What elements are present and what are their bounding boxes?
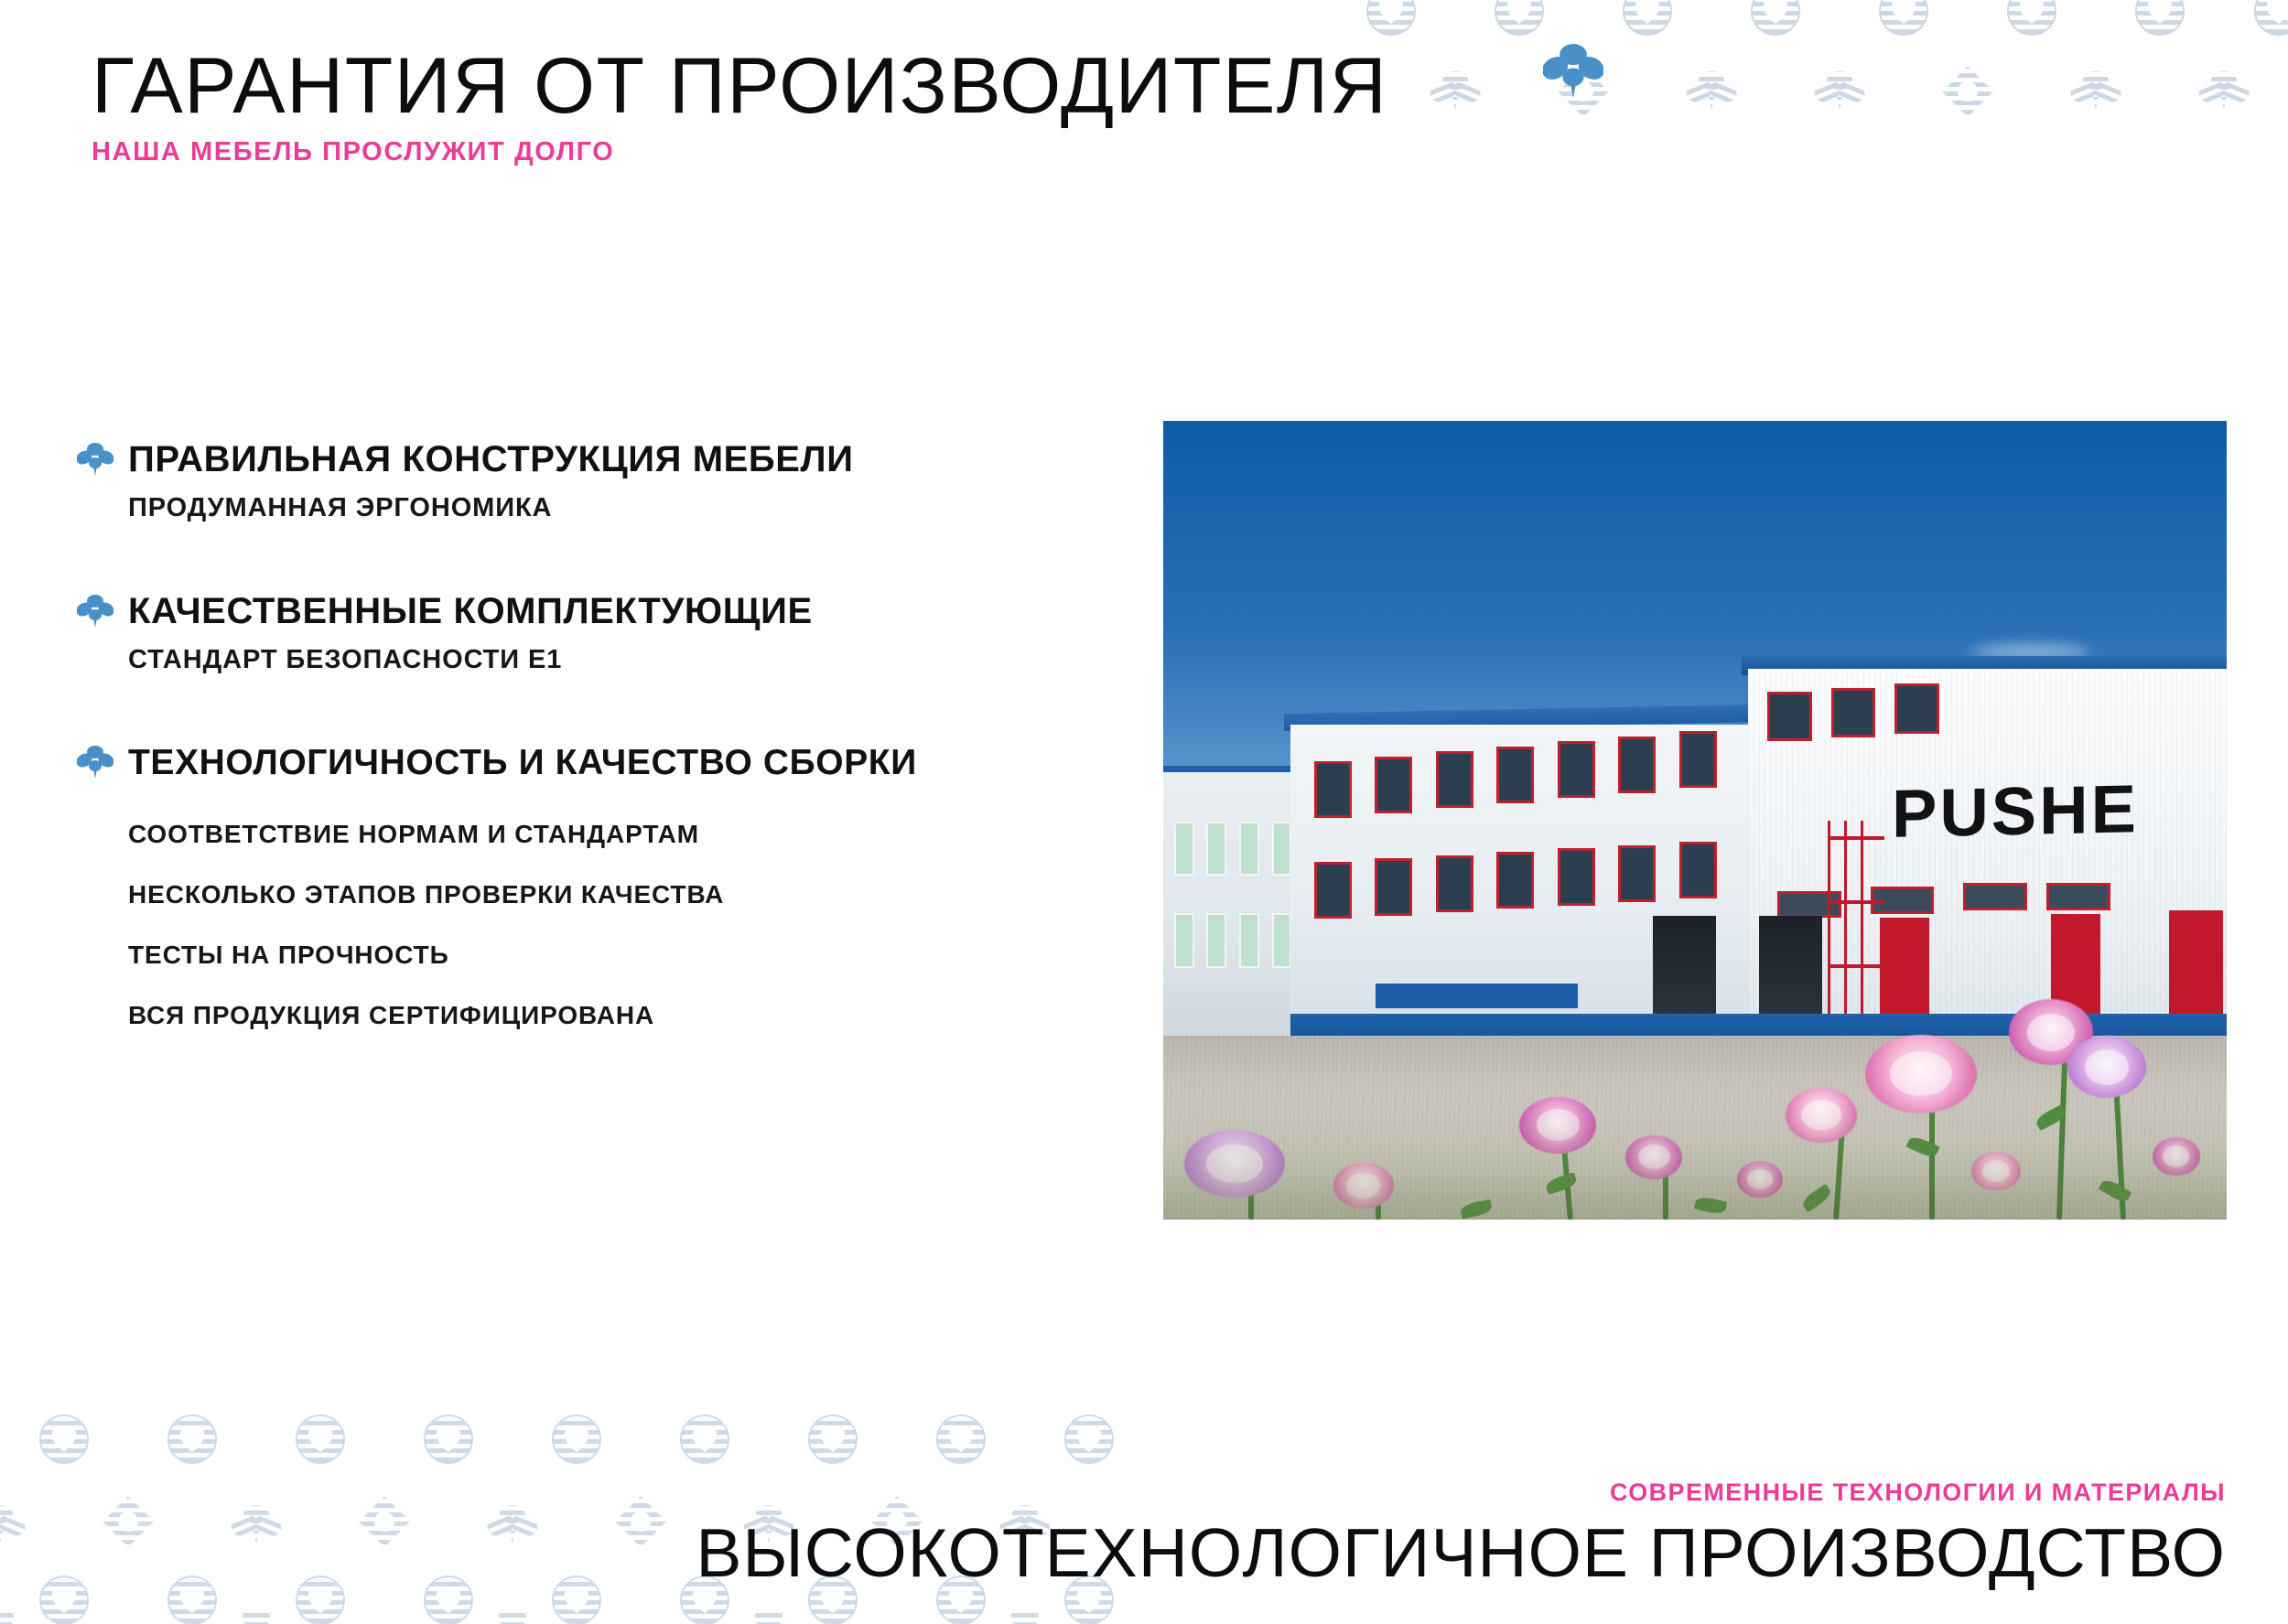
slide-header: ГАРАНТИЯ ОТ ПРОИЗВОДИТЕЛЯ НАША МЕБЕЛЬ ПР… <box>92 48 1647 167</box>
factory-photo: PUSHE <box>1163 421 2227 1220</box>
list-item: ТЕСТЫ НА ПРОЧНОСТЬ <box>128 941 1139 970</box>
feature-heading-row: КАЧЕСТВЕННЫЕ КОМПЛЕКТУЮЩИЕ <box>77 591 1139 632</box>
clover-bullet-icon <box>77 594 113 630</box>
quality-sublist: СООТВЕТСТВИЕ НОРМАМ И СТАНДАРТАМ НЕСКОЛЬ… <box>128 820 1139 1030</box>
photo-foreground-blur <box>1163 1100 2227 1220</box>
feature-item-components: КАЧЕСТВЕННЫЕ КОМПЛЕКТУЮЩИЕ СТАНДАРТ БЕЗО… <box>77 591 1139 675</box>
page-subtitle: НАША МЕБЕЛЬ ПРОСЛУЖИТ ДОЛГО <box>92 137 1647 167</box>
clover-bullet-icon <box>77 442 113 479</box>
slide-canvas: ГАРАНТИЯ ОТ ПРОИЗВОДИТЕЛЯ НАША МЕБЕЛЬ ПР… <box>0 0 2288 1624</box>
list-item: ВСЯ ПРОДУКЦИЯ СЕРТИФИЦИРОВАНА <box>128 1001 1139 1030</box>
list-item: СООТВЕТСТВИЕ НОРМАМ И СТАНДАРТАМ <box>128 820 1139 849</box>
footer-kicker: СОВРЕМЕННЫЕ ТЕХНОЛОГИИ И МАТЕРИАЛЫ <box>696 1479 2226 1507</box>
feature-subtitle: СТАНДАРТ БЕЗОПАСНОСТИ Е1 <box>128 645 1139 675</box>
feature-subtitle: ПРОДУМАННАЯ ЭРГОНОМИКА <box>128 493 1139 523</box>
feature-heading-row: ТЕХНОЛОГИЧНОСТЬ И КАЧЕСТВО СБОРКИ <box>77 743 1139 783</box>
feature-list: ПРАВИЛЬНАЯ КОНСТРУКЦИЯ МЕБЕЛИ ПРОДУМАННА… <box>77 439 1139 1045</box>
footer-heading: ВЫСОКОТЕХНОЛОГИЧНОЕ ПРОИЗВОДСТВО <box>696 1518 2226 1588</box>
feature-item-construction: ПРАВИЛЬНАЯ КОНСТРУКЦИЯ МЕБЕЛИ ПРОДУМАННА… <box>77 439 1139 523</box>
feature-heading-row: ПРАВИЛЬНАЯ КОНСТРУКЦИЯ МЕБЕЛИ <box>77 439 1139 480</box>
feature-title: ТЕХНОЛОГИЧНОСТЬ И КАЧЕСТВО СБОРКИ <box>128 743 917 783</box>
slide-footer: СОВРЕМЕННЫЕ ТЕХНОЛОГИИ И МАТЕРИАЛЫ ВЫСОК… <box>696 1479 2226 1588</box>
photo-building-sign: PUSHE <box>1892 769 2139 853</box>
clover-bullet-icon <box>77 745 113 781</box>
page-title: ГАРАНТИЯ ОТ ПРОИЗВОДИТЕЛЯ <box>92 48 1647 124</box>
feature-item-technology: ТЕХНОЛОГИЧНОСТЬ И КАЧЕСТВО СБОРКИ СООТВЕ… <box>77 743 1139 1030</box>
feature-title: ПРАВИЛЬНАЯ КОНСТРУКЦИЯ МЕБЕЛИ <box>128 439 854 480</box>
feature-title: КАЧЕСТВЕННЫЕ КОМПЛЕКТУЮЩИЕ <box>128 591 813 632</box>
list-item: НЕСКОЛЬКО ЭТАПОВ ПРОВЕРКИ КАЧЕСТВА <box>128 880 1139 909</box>
